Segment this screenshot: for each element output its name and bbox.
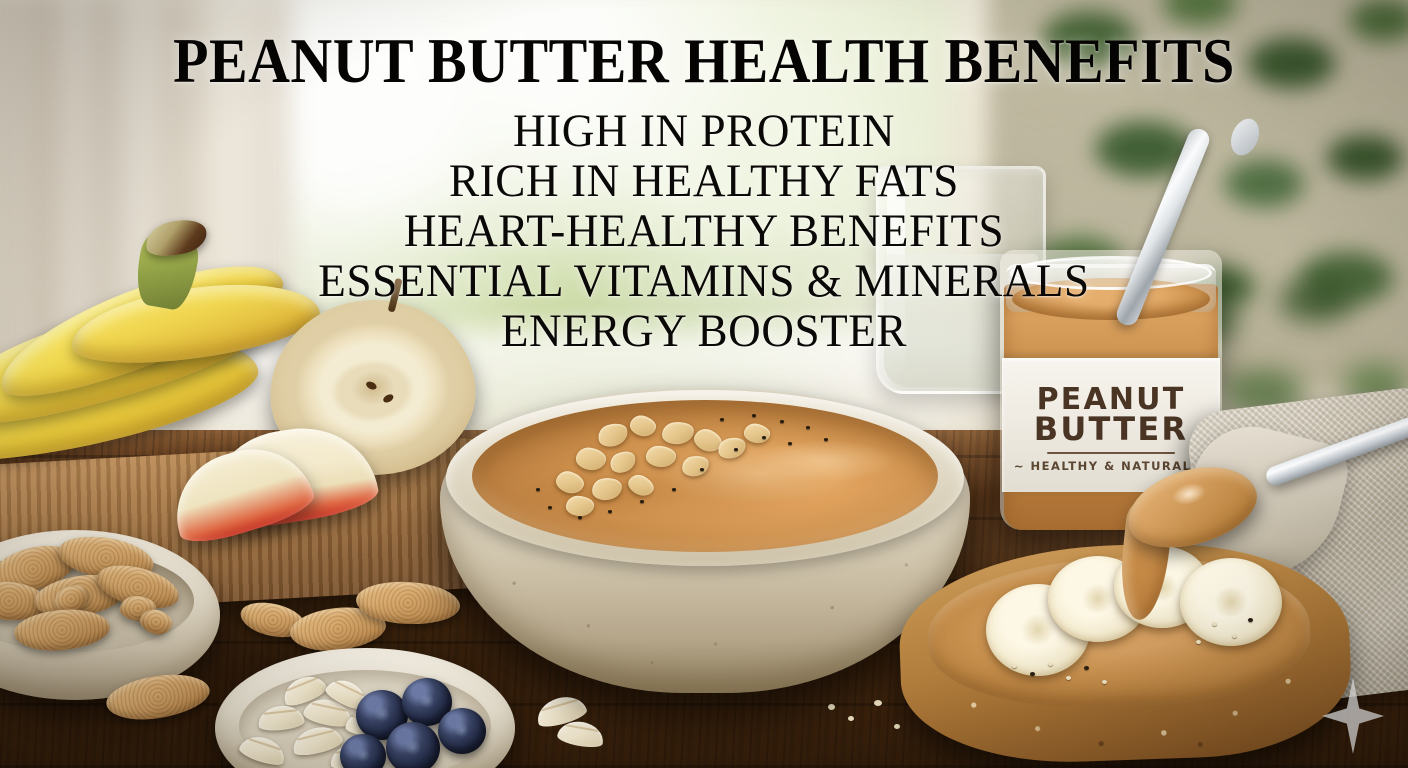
banana-slice	[1180, 558, 1282, 646]
chia-seed	[700, 468, 704, 471]
hemp-seed	[1048, 662, 1053, 666]
jar-mouth	[1010, 256, 1212, 290]
hemp-seed	[1248, 618, 1253, 622]
chia-seed	[672, 488, 676, 491]
hemp-seed	[1030, 672, 1035, 676]
chia-seed	[720, 418, 724, 421]
crumb	[848, 716, 854, 721]
chia-seed	[536, 488, 540, 491]
peanut-butter-swirl	[472, 400, 938, 552]
chia-seed	[640, 500, 644, 503]
chia-seed	[780, 420, 784, 423]
jar-label-line-2: BUTTER	[1034, 414, 1188, 445]
hemp-seed	[1232, 634, 1237, 638]
crumb	[874, 700, 882, 706]
chia-seed	[752, 414, 756, 417]
hemp-seed	[1084, 666, 1089, 670]
chia-seed	[788, 442, 792, 445]
jar-label-divider	[1047, 452, 1175, 454]
crumb	[828, 704, 835, 710]
hemp-seed	[1212, 622, 1217, 626]
hemp-seed	[1066, 676, 1071, 680]
blueberry	[386, 722, 440, 768]
peanut-butter-surface	[472, 400, 938, 552]
chia-seed	[578, 516, 582, 519]
hemp-seed	[1012, 664, 1017, 668]
poster-canvas: PEANUT BUTTER ~ HEALTHY & NATURAL ~ PEAN…	[0, 0, 1408, 768]
chia-seed	[762, 436, 766, 439]
crumb	[894, 724, 900, 729]
chia-seed	[608, 510, 612, 513]
hemp-seed	[1102, 680, 1107, 684]
chia-seed	[734, 448, 738, 451]
chia-seed	[806, 426, 810, 429]
hemp-seed	[1196, 640, 1201, 644]
chia-seed	[548, 506, 552, 509]
chia-seed	[824, 438, 828, 441]
blueberry	[438, 708, 486, 754]
